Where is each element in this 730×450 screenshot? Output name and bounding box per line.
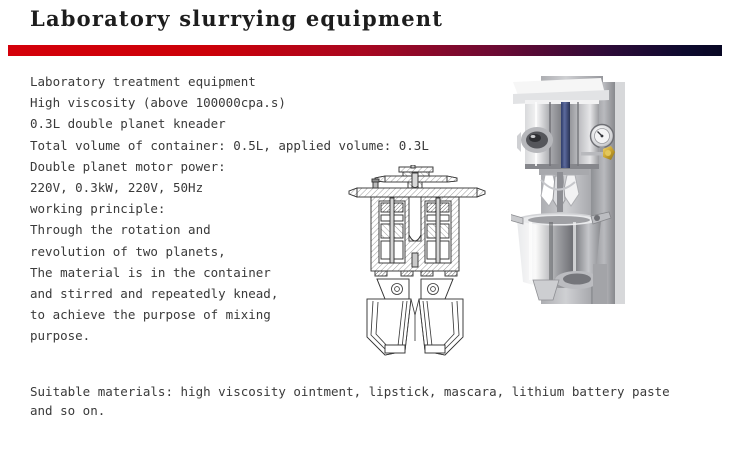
spec-line: purpose. <box>30 325 360 346</box>
gradient-divider-bar <box>8 45 722 56</box>
note-line: and so on. <box>30 401 710 420</box>
spec-line: revolution of two planets, <box>30 241 360 262</box>
note-line: Suitable materials: high viscosity ointm… <box>30 382 710 401</box>
spec-line: Laboratory treatment equipment <box>30 71 360 92</box>
spec-line: to achieve the purpose of mixing <box>30 304 360 325</box>
specification-text-block: Laboratory treatment equipment High visc… <box>30 71 360 347</box>
stainless-steel-planetary-mixer-photo <box>505 68 643 316</box>
spec-line: Double planet motor power: <box>30 156 360 177</box>
spec-line: and stirred and repeatedly knead, <box>30 283 360 304</box>
spec-line: High viscosity (above 100000cpa.s) <box>30 92 360 113</box>
page-title: Laboratory slurrying equipment <box>30 6 443 31</box>
spec-line: Through the rotation and <box>30 219 360 240</box>
double-planetary-kneader-blade-assembly-drawing <box>345 165 505 363</box>
spec-line: working principle: <box>30 198 360 219</box>
spec-line: 0.3L double planet kneader <box>30 113 360 134</box>
spec-line: The material is in the container <box>30 262 360 283</box>
suitable-materials-note: Suitable materials: high viscosity ointm… <box>30 382 710 420</box>
spec-line: Total volume of container: 0.5L, applied… <box>30 135 360 156</box>
spec-line: 220V, 0.3kW, 220V, 50Hz <box>30 177 360 198</box>
